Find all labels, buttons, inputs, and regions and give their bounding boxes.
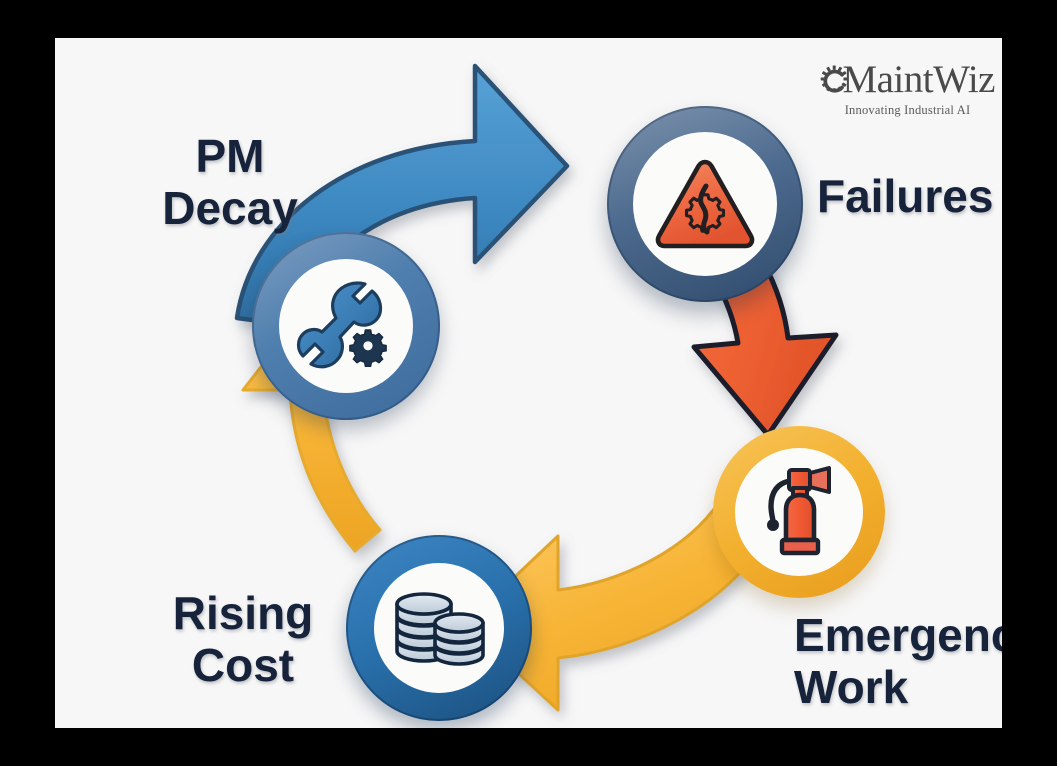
- brand-logo-row: MaintWiz: [820, 56, 995, 102]
- node-pm-decay-disc: [279, 259, 413, 393]
- label-failures: Failures: [817, 171, 993, 223]
- brand-tagline: Innovating Industrial AI: [820, 103, 995, 118]
- brand-name: MaintWiz: [842, 60, 995, 99]
- node-pm-decay[interactable]: [252, 232, 440, 420]
- node-rising-cost[interactable]: [346, 535, 532, 721]
- brand-logo[interactable]: MaintWiz Innovating Industrial AI: [820, 56, 995, 128]
- diagram-canvas: PM Decay: [55, 38, 1002, 728]
- node-failures[interactable]: [607, 106, 803, 302]
- wrench-gear-icon: [296, 276, 396, 376]
- label-emergency-work: Emergency Work: [794, 610, 1002, 713]
- node-failures-disc: [633, 132, 777, 276]
- node-rising-cost-disc: [374, 563, 504, 693]
- node-emergency-work[interactable]: [713, 426, 885, 598]
- fire-extinguisher-icon: [753, 462, 845, 562]
- label-pm-decay: PM Decay: [135, 131, 325, 234]
- label-rising-cost: Rising Cost: [143, 588, 343, 691]
- image-frame: PM Decay: [0, 0, 1057, 766]
- node-emergency-work-disc: [735, 448, 863, 576]
- coin-stacks-icon: [391, 585, 487, 671]
- warning-triangle-gear-icon: [653, 156, 757, 252]
